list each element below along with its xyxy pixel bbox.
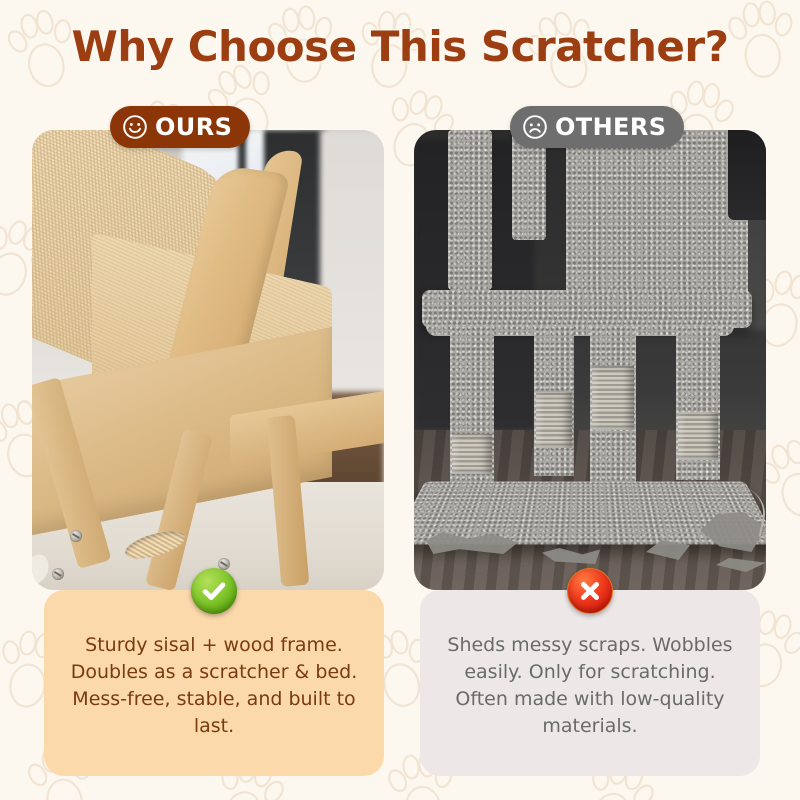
photo-ours-scene: [32, 130, 384, 590]
badge-others: OTHERS: [510, 106, 684, 148]
caption-card-ours: Sturdy sisal + wood frame. Doubles as a …: [44, 590, 384, 776]
photo-others-scene: [414, 130, 766, 590]
caption-card-others: Sheds messy scraps. Wobbles easily. Only…: [420, 590, 760, 776]
badge-ours: OURS: [110, 106, 250, 148]
sisal-wrap-3: [592, 366, 634, 430]
sisal-wrap-4: [678, 412, 718, 460]
sisal-wrap-1: [452, 434, 492, 474]
product-photo-others: [414, 130, 766, 590]
sad-face-icon: [522, 114, 548, 140]
screw-icon: [70, 530, 82, 542]
cat-tree-condo: [566, 130, 748, 300]
check-icon: [200, 577, 228, 605]
badge-ours-label: OURS: [155, 115, 232, 139]
status-badge-check: [191, 568, 237, 614]
product-photo-ours: [32, 130, 384, 590]
cross-icon: [576, 577, 604, 605]
cat-tree-condo-opening: [728, 130, 766, 220]
page-title: Why Choose This Scratcher?: [0, 22, 800, 71]
cat-tree-upper-post-left: [448, 130, 492, 290]
status-badge-cross: [567, 568, 613, 614]
screw-icon: [52, 568, 64, 580]
badge-others-label: OTHERS: [555, 115, 666, 139]
caption-text-others: Sheds messy scraps. Wobbles easily. Only…: [447, 632, 732, 740]
caption-text-ours: Sturdy sisal + wood frame. Doubles as a …: [71, 632, 358, 740]
smiley-face-icon: [122, 114, 148, 140]
sisal-wrap-2: [536, 392, 572, 448]
